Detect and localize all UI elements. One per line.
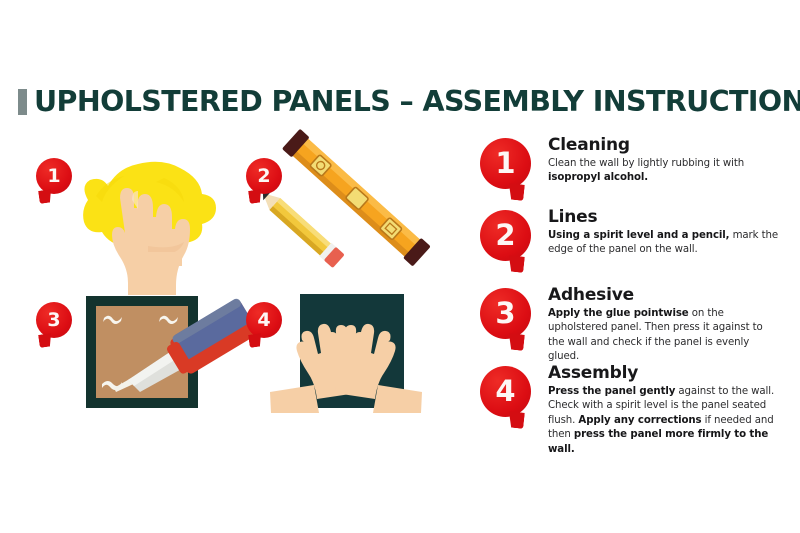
step-body: Assembly Press the panel gently against … (548, 364, 780, 457)
illustration-badge-2: 2 (246, 158, 282, 194)
step-title: Cleaning (548, 136, 780, 155)
step-title: Lines (548, 208, 780, 227)
step-badge-3: 3 (480, 288, 531, 339)
step-description: Apply the glue pointwise on the upholste… (548, 307, 780, 365)
title-accent-bar (18, 89, 27, 115)
step-description: Press the panel gently against to the wa… (548, 385, 780, 457)
step-description: Clean the wall by lightly rubbing it wit… (548, 157, 780, 186)
illustration-assembly: 4 (246, 288, 446, 418)
step-badge-2: 2 (480, 210, 531, 261)
step-title: Assembly (548, 364, 780, 383)
step-body: Cleaning Clean the wall by lightly rubbi… (548, 136, 780, 186)
illustration-cleaning: 1 (36, 140, 236, 265)
step-item-cleaning: 1 Cleaning Clean the wall by lightly rub… (480, 136, 780, 186)
step-item-adhesive: 3 Adhesive Apply the glue pointwise on t… (480, 286, 780, 365)
illustration-lines: 2 (246, 140, 446, 265)
step-item-assembly: 4 Assembly Press the panel gently agains… (480, 364, 780, 457)
illustration-badge-3: 3 (36, 302, 72, 338)
illustration-badge-4: 4 (246, 302, 282, 338)
page-title-text: UPHOLSTERED PANELS – ASSEMBLY INSTRUCTIO… (34, 85, 800, 118)
step-body: Lines Using a spirit level and a pencil,… (548, 208, 780, 258)
step-badge-4: 4 (480, 366, 531, 417)
spirit-level-and-pencil-graphic (246, 140, 446, 265)
step-body: Adhesive Apply the glue pointwise on the… (548, 286, 780, 365)
step-badge-1: 1 (480, 138, 531, 189)
illustration-badge-1: 1 (36, 158, 72, 194)
step-item-lines: 2 Lines Using a spirit level and a penci… (480, 208, 780, 258)
cloth-and-hand-graphic (36, 140, 236, 265)
infographic-page: UPHOLSTERED PANELS – ASSEMBLY INSTRUCTIO… (0, 0, 800, 533)
step-description: Using a spirit level and a pencil, mark … (548, 229, 780, 258)
step-title: Adhesive (548, 286, 780, 305)
illustration-adhesive: 3 (36, 288, 236, 418)
page-title: UPHOLSTERED PANELS – ASSEMBLY INSTRUCTIO… (18, 85, 800, 118)
